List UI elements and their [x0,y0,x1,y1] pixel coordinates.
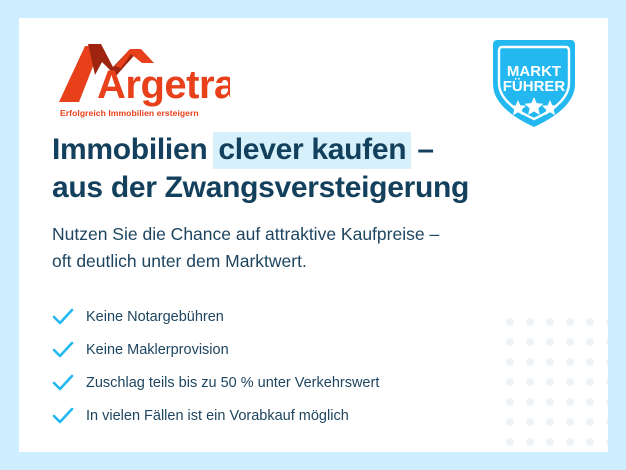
headline-suffix: – [409,133,433,166]
logo-wordmark: Argetra [97,63,230,107]
benefits-checklist: Keine Notargebühren Keine Maklerprovisio… [52,302,532,434]
subheading-line-1: Nutzen Sie die Chance auf attraktive Kau… [52,221,552,248]
badge-line2: FÜHRER [503,78,566,95]
check-icon [52,372,78,394]
argetra-logo[interactable]: Argetra Erfolgreich Immobilien ersteiger… [55,40,230,122]
check-icon [52,306,78,328]
list-item-label: Keine Maklerprovision [86,342,229,358]
list-item: Keine Maklerprovision [52,335,532,365]
subheading-line-2: oft deutlich unter dem Marktwert. [52,248,552,275]
list-item-label: Keine Notargebühren [86,309,224,325]
promo-banner: Argetra Erfolgreich Immobilien ersteiger… [0,0,626,470]
logo-tagline: Erfolgreich Immobilien ersteigern [60,108,199,118]
check-icon [52,405,78,427]
headline-line-1: Immobilien clever kaufen – [52,131,572,169]
list-item-label: In vielen Fällen ist ein Vorabkauf mögli… [86,408,349,424]
list-item-label: Zuschlag teils bis zu 50 % unter Verkehr… [86,375,379,391]
headline-line-2: aus der Zwangsversteigerung [52,169,572,207]
market-leader-badge: MARKT FÜHRER [491,38,577,130]
page-title: Immobilien clever kaufen – aus der Zwang… [52,131,572,207]
subheading: Nutzen Sie die Chance auf attraktive Kau… [52,221,552,275]
headline-highlight: clever kaufen [213,132,411,169]
content-card: Argetra Erfolgreich Immobilien ersteiger… [19,18,608,452]
headline-prefix: Immobilien [52,133,215,166]
list-item: In vielen Fällen ist ein Vorabkauf mögli… [52,401,532,431]
list-item: Zuschlag teils bis zu 50 % unter Verkehr… [52,368,532,398]
check-icon [52,339,78,361]
list-item: Keine Notargebühren [52,302,532,332]
